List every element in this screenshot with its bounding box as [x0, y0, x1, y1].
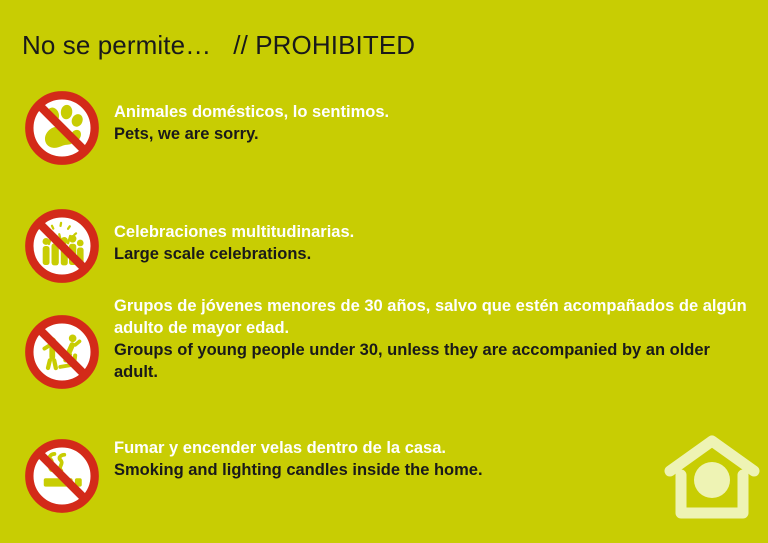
no-young-people-party-icon: [24, 314, 100, 390]
page-title: No se permite…// PROHIBITED: [22, 30, 415, 61]
rule-text-english: Groups of young people under 30, unless …: [114, 340, 754, 384]
rule-item: Grupos de jóvenes menores de 30 años, sa…: [0, 292, 768, 420]
rule-text: Grupos de jóvenes menores de 30 años, sa…: [114, 292, 768, 384]
rule-item: Animales domésticos, lo sentimos. Pets, …: [0, 88, 768, 200]
no-large-crowd-celebration-icon: [24, 208, 100, 284]
title-separator: //: [233, 30, 248, 60]
rule-text-english: Smoking and lighting candles inside the …: [114, 460, 483, 482]
rule-text-spanish: Celebraciones multitudinarias.: [114, 222, 354, 244]
title-english: PROHIBITED: [255, 30, 415, 60]
rule-text-spanish: Fumar y encender velas dentro de la casa…: [114, 438, 483, 460]
rule-text: Celebraciones multitudinarias. Large sca…: [114, 200, 368, 266]
rule-text-spanish: Grupos de jóvenes menores de 30 años, sa…: [114, 296, 754, 340]
rule-text-english: Pets, we are sorry.: [114, 124, 389, 146]
rule-text-english: Large scale celebrations.: [114, 244, 354, 266]
rules-list: Animales domésticos, lo sentimos. Pets, …: [0, 88, 768, 510]
title-spanish: No se permite…: [22, 30, 211, 60]
prohibited-rules-poster: No se permite…// PROHIBITED: [0, 0, 768, 543]
rule-item: Fumar y encender velas dentro de la casa…: [0, 420, 768, 510]
no-pets-paw-icon: [24, 90, 100, 166]
rule-text: Animales domésticos, lo sentimos. Pets, …: [114, 88, 403, 146]
rule-item: Celebraciones multitudinarias. Large sca…: [0, 200, 768, 292]
no-smoking-candles-icon: [24, 438, 100, 514]
rule-text: Fumar y encender velas dentro de la casa…: [114, 420, 497, 482]
rule-text-spanish: Animales domésticos, lo sentimos.: [114, 102, 389, 124]
